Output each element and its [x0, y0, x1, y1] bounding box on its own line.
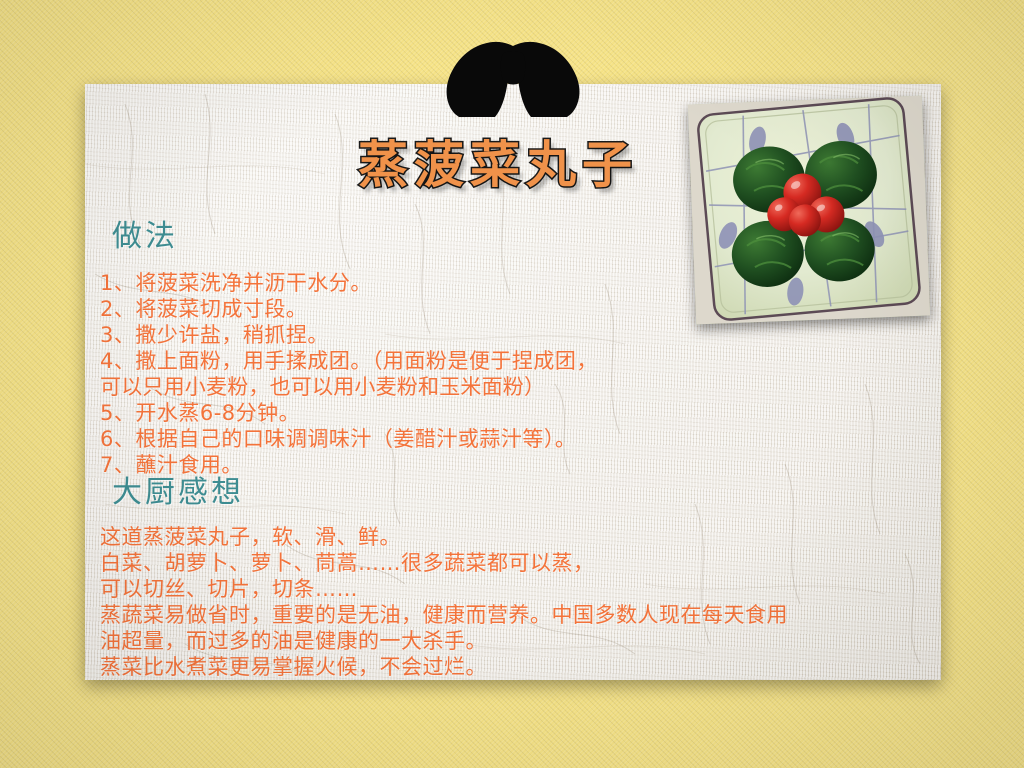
list-item: 白菜、胡萝卜、萝卜、茼蒿……很多蔬菜都可以蒸，	[100, 550, 788, 576]
list-item: 蒸蔬菜易做省时，重要的是无油，健康而营养。中国多数人现在每天食用	[100, 602, 788, 628]
page-title: 蒸菠菜丸子	[358, 140, 638, 190]
dish-photo	[688, 96, 930, 325]
recipe-card-page: 蒸菠菜丸子 做法 1、将菠菜洗净并沥干水分。 2、将菠菜切成寸段。 3、撒少许盐…	[0, 0, 1024, 768]
list-item-continuation: 可以只用小麦粉，也可以用小麦粉和玉米面粉）	[100, 374, 598, 400]
bow-ribbon-icon	[425, 32, 601, 117]
list-item: 2、将菠菜切成寸段。	[100, 296, 598, 322]
section-heading-method: 做法	[112, 222, 178, 252]
list-item: 3、撒少许盐，稍抓捏。	[100, 322, 598, 348]
list-item: 可以切丝、切片，切条……	[100, 576, 788, 602]
list-item: 1、将菠菜洗净并沥干水分。	[100, 270, 598, 296]
method-steps-list: 1、将菠菜洗净并沥干水分。 2、将菠菜切成寸段。 3、撒少许盐，稍抓捏。 4、撒…	[100, 270, 598, 478]
chef-notes-list: 这道蒸菠菜丸子，软、滑、鲜。 白菜、胡萝卜、萝卜、茼蒿……很多蔬菜都可以蒸， 可…	[100, 524, 788, 680]
list-item: 5、开水蒸6-8分钟。	[100, 400, 598, 426]
list-item: 6、根据自己的口味调调味汁（姜醋汁或蒜汁等）。	[100, 426, 598, 452]
list-item: 油超量，而过多的油是健康的一大杀手。	[100, 628, 788, 654]
section-heading-chef-notes: 大厨感想	[112, 478, 244, 508]
list-item: 这道蒸菠菜丸子，软、滑、鲜。	[100, 524, 788, 550]
list-item: 4、撒上面粉，用手揉成团。（用面粉是便于捏成团，	[100, 348, 598, 374]
list-item: 蒸菜比水煮菜更易掌握火候，不会过烂。	[100, 654, 788, 680]
